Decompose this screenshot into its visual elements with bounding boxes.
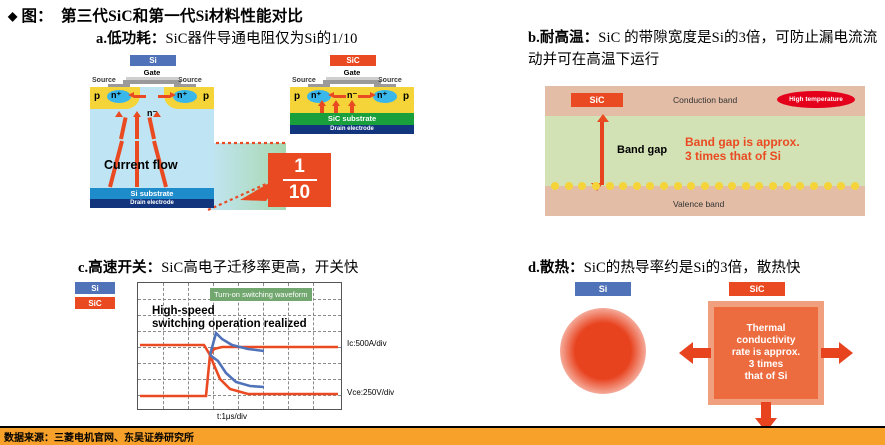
section-c-label: c.高速开关： bbox=[78, 260, 161, 276]
section-d-body: SiC的热导率约是Si的3倍，散热快 bbox=[584, 260, 801, 276]
valence-dot bbox=[755, 182, 763, 190]
section-d-label: d.散热： bbox=[528, 260, 584, 276]
bandgap-note-line1: Band gap is approx. bbox=[685, 136, 800, 150]
high-speed-note-line2: switching operation realized bbox=[152, 318, 307, 331]
sic-mosfet-diagram: SiC Gate Source Source p p n⁺ n⁺ n⁻ bbox=[290, 55, 415, 165]
time-scale-label: t:1μs/div bbox=[217, 412, 247, 421]
vce-scale-label: Vce:250V/div bbox=[347, 388, 394, 397]
waveform-legend: Si SiC bbox=[75, 282, 115, 312]
valence-electron-dots bbox=[545, 182, 865, 191]
sic-n-plus-label-right: n⁺ bbox=[377, 90, 387, 101]
sic-drain-layer: Drain electrode bbox=[290, 125, 414, 134]
valence-dot bbox=[592, 182, 600, 190]
sic-channel-arrow-left-stem bbox=[334, 95, 346, 98]
thermal-line-5: that of Si bbox=[732, 371, 800, 383]
source-footer: 数据来源：三菱电机官网、东吴证券研究所 bbox=[0, 426, 885, 445]
valence-dot bbox=[701, 182, 709, 190]
thermal-arrow-left-stem bbox=[693, 348, 711, 358]
page-title-text: 图： 第三代SiC和第一代Si材料性能对比 bbox=[21, 8, 303, 25]
thermal-text-block: Thermal conductivity rate is approx. 3 t… bbox=[732, 323, 800, 384]
valence-dot bbox=[606, 182, 614, 190]
waveform-traces bbox=[138, 283, 340, 408]
section-a-label: a.低功耗： bbox=[96, 31, 165, 47]
valence-dot bbox=[810, 182, 818, 190]
sic-chip-label: SiC bbox=[330, 55, 376, 66]
legend-item-si: Si bbox=[75, 282, 115, 294]
valence-dot bbox=[633, 182, 641, 190]
thermal-arrow-down-stem bbox=[761, 402, 771, 418]
oscilloscope-plot: Turn-on switching waveform High-speed sw… bbox=[137, 282, 342, 410]
section-b-label: b.耐高温： bbox=[528, 30, 598, 46]
valence-dot bbox=[646, 182, 654, 190]
section-d-heading: d.散热：SiC的热导率约是Si的3倍，散热快 bbox=[528, 256, 801, 277]
valence-dot bbox=[715, 182, 723, 190]
valence-dot bbox=[728, 182, 736, 190]
ratio-numerator: 1 bbox=[294, 157, 305, 177]
thermal-line-1: Thermal bbox=[732, 323, 800, 335]
valence-dot bbox=[769, 182, 777, 190]
si-source-right-label: Source bbox=[178, 77, 202, 84]
panel-c-switching-waveform: Si SiC Tu bbox=[75, 282, 415, 427]
thermal-arrow-right-head bbox=[839, 342, 853, 364]
bandgap-arrow-stem bbox=[600, 119, 604, 185]
si-drain-layer: Drain electrode bbox=[90, 199, 214, 208]
sic-current-arrow-c-head bbox=[332, 100, 340, 106]
high-speed-note-line1: High-speed bbox=[152, 305, 307, 318]
si-mosfet-diagram: Si Gate Source Source p p n⁺ n⁺ n⁻ bbox=[90, 55, 215, 215]
sic-substrate-layer: SiC substrate bbox=[290, 113, 414, 125]
sic-source-left-label: Source bbox=[292, 77, 316, 84]
thermal-arrow-left-head bbox=[679, 342, 693, 364]
si-gate-metal bbox=[123, 80, 181, 84]
sic-p-label-left: p bbox=[294, 91, 300, 102]
si-gate-label: Gate bbox=[126, 68, 178, 77]
section-a-body: SiC器件导通电阻仅为Si的1/10 bbox=[165, 31, 357, 47]
ratio-denominator: 10 bbox=[289, 183, 310, 203]
sic-channel-arrow-right-stem bbox=[358, 95, 370, 98]
slide-page: ◆图： 第三代SiC和第一代Si材料性能对比 a.低功耗：SiC器件导通电阻仅为… bbox=[0, 0, 885, 445]
thermal-line-2: conductivity bbox=[732, 335, 800, 347]
bandgap-arrow-up-head bbox=[597, 114, 609, 122]
valence-dot bbox=[619, 182, 627, 190]
sic-channel-arrow-right-head bbox=[370, 92, 376, 98]
thermal-arrow-right-stem bbox=[821, 348, 839, 358]
valence-dot bbox=[565, 182, 573, 190]
section-a-heading: a.低功耗：SiC器件导通电阻仅为Si的1/10 bbox=[96, 27, 357, 48]
sic-substrate-label: SiC substrate bbox=[290, 114, 414, 123]
panel-d-thermal-diagram: Si SiC Thermal conductivity rate is appr… bbox=[545, 282, 875, 432]
valence-dot bbox=[742, 182, 750, 190]
ratio-callout-box: 1 10 bbox=[268, 153, 331, 207]
sic-gate-label: Gate bbox=[326, 68, 378, 77]
section-c-body: SiC高电子迁移率更高，开关快 bbox=[161, 260, 358, 276]
valence-dot bbox=[551, 182, 559, 190]
bandgap-note: Band gap is approx. 3 times that of Si bbox=[685, 136, 800, 164]
sic-drain-label: Drain electrode bbox=[290, 126, 414, 132]
sic-source-right-label: Source bbox=[378, 77, 402, 84]
bandgap-note-line2: 3 times that of Si bbox=[685, 150, 800, 164]
sic-current-arrow-r-head bbox=[348, 100, 356, 106]
valence-band-label: Valence band bbox=[673, 199, 724, 209]
si-current-flow-label: Current flow bbox=[104, 158, 178, 172]
turn-on-badge: Turn-on switching waveform bbox=[210, 288, 312, 301]
valence-dot bbox=[796, 182, 804, 190]
valence-dot bbox=[824, 182, 832, 190]
valence-dot bbox=[837, 182, 845, 190]
source-text: 数据来源：三菱电机官网、东吴证券研究所 bbox=[0, 429, 194, 444]
valence-dot bbox=[578, 182, 586, 190]
section-b-heading: b.耐高温：SiC 的带隙宽度是Si的3倍，可防止漏电流流动并可在高温下运行 bbox=[528, 27, 878, 72]
si-heat-blob bbox=[560, 308, 646, 394]
valence-dot bbox=[660, 182, 668, 190]
valence-dot bbox=[687, 182, 695, 190]
si-thermal-chip: Si bbox=[575, 282, 631, 296]
si-source-left-label: Source bbox=[92, 77, 116, 84]
sic-thermal-chip: SiC bbox=[729, 282, 785, 296]
page-title: ◆图： 第三代SiC和第一代Si材料性能对比 bbox=[8, 4, 303, 26]
sic-p-label-right: p bbox=[403, 91, 409, 102]
panel-a-mosfet-comparison: Si Gate Source Source p p n⁺ n⁺ n⁻ bbox=[90, 55, 470, 245]
valence-dot bbox=[783, 182, 791, 190]
panel-b-bandgap-diagram: SiC Conduction band High temperature Ban… bbox=[545, 86, 865, 216]
bandgap-label: Band gap bbox=[617, 144, 667, 156]
legend-item-sic: SiC bbox=[75, 297, 115, 309]
thermal-line-4: 3 times bbox=[732, 359, 800, 371]
valence-dot bbox=[674, 182, 682, 190]
high-temperature-badge: High temperature bbox=[777, 91, 855, 108]
ic-scale-label: Ic:500A/div bbox=[347, 339, 387, 348]
valence-dot bbox=[851, 182, 859, 190]
sic-current-arrow-l-head bbox=[318, 100, 326, 106]
sic-thermal-box: Thermal conductivity rate is approx. 3 t… bbox=[714, 307, 818, 399]
sic-chip-badge: SiC bbox=[571, 93, 623, 107]
bullet-diamond-icon: ◆ bbox=[8, 9, 17, 24]
si-drain-label: Drain electrode bbox=[90, 200, 214, 206]
si-current-flow-lines bbox=[90, 87, 214, 195]
conduction-band-label: Conduction band bbox=[673, 95, 737, 105]
si-substrate-label: Si substrate bbox=[90, 189, 214, 198]
thermal-line-3: rate is approx. bbox=[732, 347, 800, 359]
sic-gate-metal bbox=[323, 80, 381, 84]
high-speed-note: High-speed switching operation realized bbox=[152, 305, 307, 331]
section-c-heading: c.高速开关：SiC高电子迁移率更高，开关快 bbox=[78, 256, 359, 277]
sic-channel-arrow-left-head bbox=[328, 92, 334, 98]
si-chip-label: Si bbox=[130, 55, 176, 66]
si-substrate-layer: Si substrate bbox=[90, 188, 214, 199]
ratio-fraction-bar bbox=[283, 179, 317, 181]
